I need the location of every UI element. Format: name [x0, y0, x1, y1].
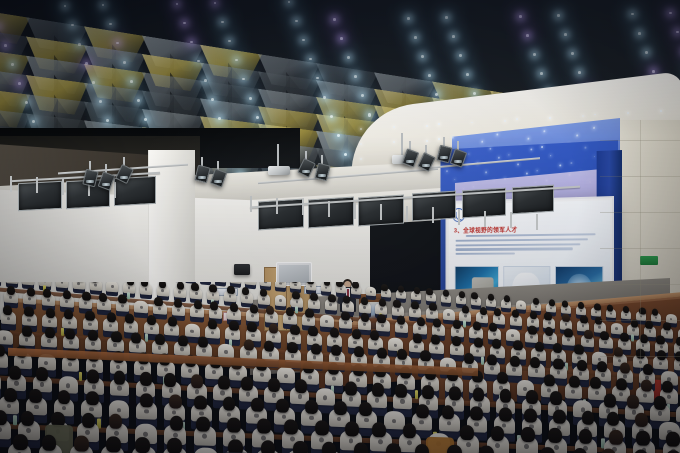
backdrop-top-star [496, 134, 497, 136]
audience-member-head [331, 344, 341, 356]
audience-member-head [372, 422, 386, 438]
backdrop-top-star [481, 141, 482, 143]
seat-headrest-cover [275, 294, 287, 306]
ceiling-downlight [557, 14, 560, 17]
railing-post [62, 179, 64, 195]
soffit-accent-light [582, 115, 584, 117]
audience-member-head [86, 391, 99, 406]
ceiling-downlight [302, 39, 305, 42]
audience-member-head [170, 415, 184, 431]
audience-member-head [111, 331, 121, 343]
railing-post [406, 206, 408, 222]
spotlight-lens [440, 156, 448, 159]
backdrop-star [485, 171, 486, 173]
audience-member-head [553, 409, 566, 424]
seat-headrest-cover [676, 405, 680, 423]
ceiling-downlight [452, 35, 455, 38]
audience-member-head [4, 388, 17, 403]
audience-member-head [46, 307, 55, 318]
audience-member-head [269, 323, 278, 334]
wall-speaker [234, 264, 250, 275]
exit-sign [640, 256, 658, 265]
spotlight-lens [102, 183, 110, 186]
soffit-accent-light [504, 120, 506, 122]
soffit-accent-light [426, 125, 428, 127]
ceiling-downlight [459, 54, 462, 57]
audience-member-head [403, 423, 417, 439]
audience-member-head [293, 440, 308, 453]
audience-member-head [562, 314, 569, 323]
ceiling-downlight [347, 56, 350, 59]
projector-mount-pole [277, 144, 279, 166]
audience-member-head [578, 301, 585, 309]
audience-member-head [443, 289, 450, 297]
audience-member-head [417, 317, 425, 327]
seat-headrest-cover [443, 308, 455, 320]
audience-member-head [616, 378, 627, 391]
audience-member-head [29, 389, 42, 404]
audience-member-head [223, 396, 236, 411]
audience-member-head [287, 342, 297, 354]
ceiling-downlight [11, 63, 14, 66]
audience-member-head [553, 358, 563, 370]
audience-member-head [579, 429, 593, 445]
audience-member-head [345, 382, 357, 396]
ceiling-downlight [540, 72, 543, 75]
audience-member-head [36, 367, 48, 381]
ceiling-downlight [144, 118, 147, 121]
audience-member-head [87, 370, 99, 384]
slide-body-line [456, 253, 515, 255]
backdrop-star [468, 154, 469, 155]
audience-member-head [381, 284, 388, 292]
audience-member-head [22, 325, 32, 337]
backdrop-star [454, 179, 455, 180]
audience-member-head [433, 318, 441, 328]
ceiling-downlight [309, 58, 312, 61]
audience-member-head [247, 321, 256, 332]
ceiling-downlight [519, 15, 522, 18]
auditorium-photo: 清华大学 3、全球视野的领军人才 清华大学 [0, 0, 680, 453]
ceiling-downlight [204, 79, 207, 82]
ceiling-downlight [78, 43, 81, 46]
audience-member-head [548, 428, 562, 444]
ceiling-downlight [256, 116, 259, 119]
ceiling-downlight [421, 55, 424, 58]
audience-member-head [210, 301, 218, 311]
railing-post [380, 204, 382, 220]
audience-member-head [328, 294, 335, 303]
seat-headrest-cover [290, 282, 301, 290]
ceiling-downlight [638, 32, 641, 35]
audience-member-head [652, 308, 659, 316]
seat-headrest-cover [90, 282, 102, 290]
audience-member-head [666, 431, 680, 447]
audience-member-head [64, 309, 73, 320]
audience-member-head [114, 371, 126, 385]
audience-member-head [623, 306, 630, 314]
audience-member-head [230, 303, 238, 313]
audience-member-head [341, 311, 349, 321]
audience-member-head [311, 343, 321, 355]
ceiling-downlight [645, 51, 648, 54]
spotlight-lens [406, 160, 414, 163]
audience-member-head [449, 387, 461, 401]
audience-member-head [494, 308, 501, 317]
backdrop-star [508, 154, 509, 155]
audience-member-head [21, 411, 35, 427]
audience-member-head [174, 298, 182, 308]
backdrop-star [550, 155, 551, 156]
audience-member-head [266, 305, 274, 315]
railing-post [354, 203, 356, 219]
ceiling-downlight [323, 96, 326, 99]
audience-member-head [361, 313, 369, 323]
soffit-accent-light [360, 143, 362, 145]
audience-member-head [577, 360, 587, 372]
railing-post [458, 209, 460, 225]
audience-member-head [229, 320, 238, 331]
ceiling-downlight [676, 31, 679, 34]
backdrop-star [594, 156, 595, 157]
audience-member-head [196, 416, 210, 432]
audience-member-head [7, 286, 15, 296]
railing-post [36, 177, 38, 193]
backdrop-star [517, 163, 519, 165]
audience-member-head [663, 322, 670, 331]
audience-member-head [636, 430, 650, 446]
audience-member-head [607, 411, 620, 426]
ceiling-downlight [102, 4, 104, 6]
audience-member-head [194, 300, 202, 310]
audience-member-head [530, 311, 537, 320]
audience-member-head [460, 425, 474, 441]
backdrop-top-star [593, 127, 595, 129]
audience-member-head [545, 327, 553, 337]
audience-member-head [640, 334, 648, 344]
backdrop-star [489, 148, 491, 150]
audience-member-head [65, 328, 75, 340]
audience-member-head [544, 374, 555, 387]
audience-member-head [58, 390, 71, 405]
audience-member-head [370, 330, 379, 341]
slide-body-line [456, 238, 589, 242]
ceiling-downlight [466, 73, 469, 76]
audience-member-head [426, 288, 433, 296]
audience-member-head [63, 290, 71, 300]
audience-member-head [260, 288, 267, 297]
water-bottle [127, 292, 130, 299]
audience-member-head [118, 294, 126, 304]
wall-monitor-screen [279, 265, 309, 283]
slide-body-text [456, 233, 603, 257]
audience-member-head [268, 378, 280, 392]
audience-member-head [564, 328, 572, 338]
audience-member-head [574, 344, 583, 355]
audience-member-head [352, 282, 359, 289]
backdrop-star [530, 148, 532, 150]
audience-member-head [569, 375, 580, 388]
audience-member-head [620, 362, 630, 374]
audience-member-head [264, 340, 274, 352]
audience-member-head [361, 297, 368, 306]
audience-member-head [167, 437, 182, 453]
soffit-accent-light [360, 128, 362, 130]
audience-member-head [549, 299, 556, 307]
audience-member-head [597, 361, 607, 373]
audience-member-head [154, 297, 162, 307]
ceiling-downlight [414, 36, 417, 39]
ceiling-downlight [64, 5, 66, 7]
audience-member-head [491, 426, 505, 442]
audience-member-head [453, 320, 461, 330]
spotlight-lens [198, 176, 206, 179]
audience-member-head [244, 339, 254, 351]
audience-member-head [194, 395, 207, 410]
railing-post [484, 211, 486, 227]
ceiling-downlight [330, 115, 333, 118]
railing-post [510, 212, 512, 228]
railing-post [276, 198, 278, 214]
audience-member-head [512, 309, 519, 318]
audience-member-head [257, 418, 271, 434]
audience-member-head [218, 376, 230, 390]
audience-member-head [352, 328, 361, 339]
railing-post [432, 207, 434, 223]
ceiling-downlight [407, 17, 410, 20]
ceiling-downlight [228, 40, 231, 43]
audience-member-head [422, 385, 434, 399]
audience-member-head [336, 282, 343, 287]
soffit-accent-light [360, 158, 362, 160]
audience-member-head [241, 377, 253, 391]
audience-member-head [343, 295, 350, 304]
spotlight-lens [422, 164, 430, 167]
slide-body-line [456, 248, 573, 251]
audience-member-head [620, 332, 628, 342]
audience-member-head [43, 288, 51, 298]
soffit-accent-light [438, 138, 440, 140]
ceiling-downlight [295, 20, 298, 23]
backdrop-star [446, 170, 447, 172]
audience-member-head [109, 414, 123, 430]
seat-headrest-cover [56, 282, 68, 288]
audience-member-head [345, 421, 359, 437]
ceiling-downlight [190, 41, 193, 44]
audience-member-head [499, 407, 512, 422]
ceiling-downlight [337, 134, 340, 137]
audience-member-head [305, 400, 318, 415]
ceiling-downlight [4, 44, 7, 47]
ceiling-downlight [92, 81, 95, 84]
ceiling-downlight [99, 100, 102, 103]
audience-member-head [504, 295, 511, 303]
seat-headrest-cover [277, 367, 295, 384]
audience-member-head [397, 315, 405, 325]
audience-member-head [459, 291, 466, 299]
seat-headrest-cover [516, 300, 527, 310]
audience-member-head [398, 285, 405, 293]
audience-member-head [411, 301, 418, 310]
audience-member-head [535, 341, 544, 352]
audience-member-head [42, 434, 57, 451]
ceiling-downlight [526, 34, 529, 37]
soffit-accent-light [438, 123, 440, 125]
ceiling-downlight [445, 16, 448, 19]
ceiling-downlight [85, 62, 88, 65]
audience-member-head [13, 434, 28, 451]
audience-member-head [607, 304, 614, 312]
seat-back [0, 282, 1, 287]
audience-member-head [315, 420, 329, 436]
ceiling-downlight [137, 99, 140, 102]
audience-member-head [99, 293, 107, 303]
ceiling-downlight [333, 18, 336, 21]
ceiling-downlight [564, 33, 567, 36]
ceiling-projector [268, 166, 290, 175]
audience-member-head [656, 335, 664, 345]
audience-member-head [386, 443, 401, 453]
ceiling-downlight [249, 97, 252, 100]
audience-member-head [627, 395, 639, 409]
seat-headrest-cover [384, 411, 405, 430]
audience-member-head [9, 366, 21, 380]
audience-member-head [510, 355, 520, 367]
spotlight-lens [318, 174, 326, 177]
audience-member-head [488, 293, 495, 301]
audience-member-head [420, 350, 430, 362]
audience-member-head [140, 393, 153, 408]
spotlight-lens [214, 180, 222, 183]
audience-member-head [242, 287, 249, 296]
audience-member-head [492, 338, 501, 349]
ceiling-downlight [25, 101, 28, 104]
railing-post [10, 176, 12, 192]
audience-member-head [377, 347, 387, 359]
ceiling-downlight [533, 53, 536, 56]
audience-member-head [464, 353, 474, 365]
audience-member-head [310, 293, 317, 302]
ceiling-downlight [288, 1, 290, 3]
audience-member-head [584, 330, 592, 340]
audience-member-head [413, 333, 422, 344]
audience-member-head [178, 335, 188, 347]
audience-member-head [45, 327, 55, 339]
audience-member-head [645, 321, 652, 330]
audience-member-head [416, 404, 429, 419]
soffit-accent-light [426, 140, 428, 142]
seat-headrest-cover [316, 388, 335, 406]
audience-member-head [397, 348, 407, 360]
audience-member-head [442, 405, 455, 420]
seat-headrest-cover [185, 323, 200, 337]
railing-post [250, 196, 252, 212]
seat-headrest-cover [0, 330, 13, 345]
audience-member-head [550, 391, 562, 405]
audience-member-head [354, 346, 364, 358]
audience-member-head [643, 364, 653, 376]
audience-member-head [533, 297, 540, 305]
audience-member-head [429, 302, 436, 311]
audience-member-head [594, 303, 601, 311]
audience-member-head [82, 291, 90, 301]
ceiling-downlight [176, 3, 178, 5]
audience-member-head [191, 283, 198, 292]
spotlight-lens [302, 170, 310, 173]
audience-member-head [107, 312, 116, 323]
audience-member-head [106, 436, 121, 453]
backdrop-star [584, 147, 586, 149]
audience-member-head [308, 325, 317, 336]
audience-member-head [414, 287, 421, 295]
ceiling-downlight [340, 37, 343, 40]
seat-headrest-cover [366, 286, 377, 296]
audience-member-head [654, 396, 666, 410]
audience-member-head [140, 372, 152, 386]
ceiling-downlight [109, 23, 112, 26]
audience-member-head [431, 334, 440, 345]
audience-member-head [524, 408, 537, 423]
audience-member-head [372, 383, 384, 397]
audience-member-head [641, 379, 652, 392]
slide-body-line [466, 233, 595, 237]
backdrop-top-star [576, 134, 577, 136]
audience-member-head [487, 354, 497, 366]
audience-member-head [85, 310, 94, 321]
ceiling-downlight [578, 71, 581, 74]
audience-member-head [82, 413, 96, 429]
audience-member-head [164, 373, 176, 387]
audience-member-head [600, 331, 608, 341]
projector-mount-pole [401, 133, 403, 155]
audience-member-head [208, 318, 217, 329]
ceiling-downlight [221, 21, 224, 24]
audience-member-head [480, 307, 487, 316]
audience-member-head [604, 394, 616, 408]
ceiling-downlight [235, 59, 238, 62]
ceiling-downlight [123, 61, 126, 64]
ceiling-downlight [130, 80, 133, 83]
audience-member-head [582, 410, 595, 425]
audience-member-head [395, 384, 407, 398]
spotlight-lens [454, 160, 462, 163]
audience-member-head [295, 379, 307, 393]
audience-member-head [530, 357, 540, 369]
audience-member-head [662, 380, 673, 393]
backdrop-top-star [528, 138, 529, 140]
spotlight-lens [120, 176, 128, 179]
audience-member-head [209, 284, 216, 293]
audience-member-head [290, 324, 299, 335]
audience-member-head [147, 314, 156, 325]
seat-headrest-cover [73, 282, 85, 289]
audience-member-head [497, 371, 508, 384]
backdrop-top-star [543, 130, 544, 132]
seat-headrest-cover [0, 372, 1, 390]
audience-member-head [284, 419, 298, 435]
audience-member-head [276, 398, 289, 413]
ceiling-downlight [571, 52, 574, 55]
ceiling-downlight [183, 22, 186, 25]
audience-member-head [609, 430, 623, 446]
soffit-accent-light [627, 112, 629, 114]
balcony-window-panel [18, 181, 62, 211]
audience-member-head [635, 413, 648, 428]
audience-member-head [526, 390, 538, 404]
audience-member-head [155, 334, 165, 346]
audience-member-head [359, 402, 372, 417]
audience-member-head [251, 397, 264, 412]
